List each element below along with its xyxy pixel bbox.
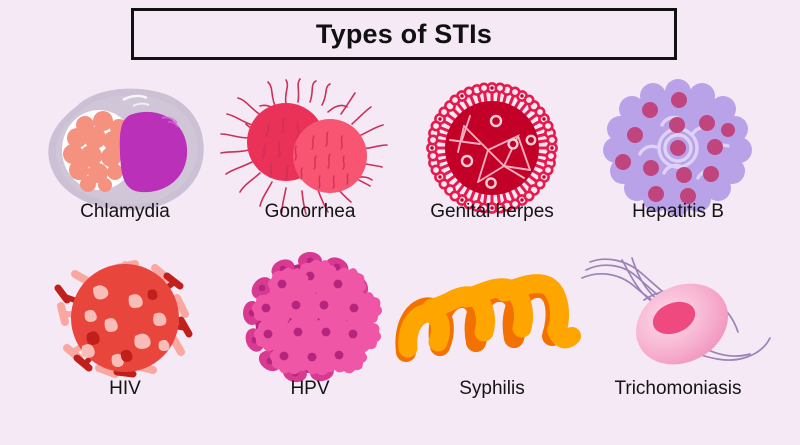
item-label-trichomoniasis: Trichomoniasis (578, 378, 778, 400)
item-label-hiv: HIV (25, 378, 225, 400)
item-syphilis: Syphilis (392, 248, 592, 428)
item-label-hpv: HPV (210, 378, 410, 400)
item-trichomoniasis: Trichomoniasis (578, 248, 778, 428)
item-gonorrhea: Gonorrhea (210, 78, 410, 258)
item-label-chlamydia: Chlamydia (25, 201, 225, 223)
item-label-genital-herpes: Genital herpes (392, 201, 592, 223)
item-genital-herpes: Genital herpes (392, 78, 592, 258)
hepatitis-b-virion-icon (578, 78, 778, 218)
item-label-gonorrhea: Gonorrhea (210, 201, 410, 223)
syphilis-spirochete-icon (392, 248, 592, 388)
item-hpv: HPV (210, 248, 410, 428)
hiv-virion-icon (25, 248, 225, 388)
sti-infographic: Types of STIs Chlamydia (0, 0, 800, 445)
herpes-virion-icon (392, 78, 592, 218)
trichomonas-protozoan-icon (578, 248, 778, 388)
chlamydia-cell-icon (25, 78, 225, 218)
item-hiv: HIV (25, 248, 225, 428)
page-title: Types of STIs (131, 8, 677, 60)
item-chlamydia: Chlamydia (25, 78, 225, 258)
gonorrhea-diplococcus-icon (210, 78, 410, 218)
item-hepatitis-b: Hepatitis B (578, 78, 778, 258)
item-label-hepatitis-b: Hepatitis B (578, 201, 778, 223)
hpv-virion-icon (210, 248, 410, 388)
item-label-syphilis: Syphilis (392, 378, 592, 400)
